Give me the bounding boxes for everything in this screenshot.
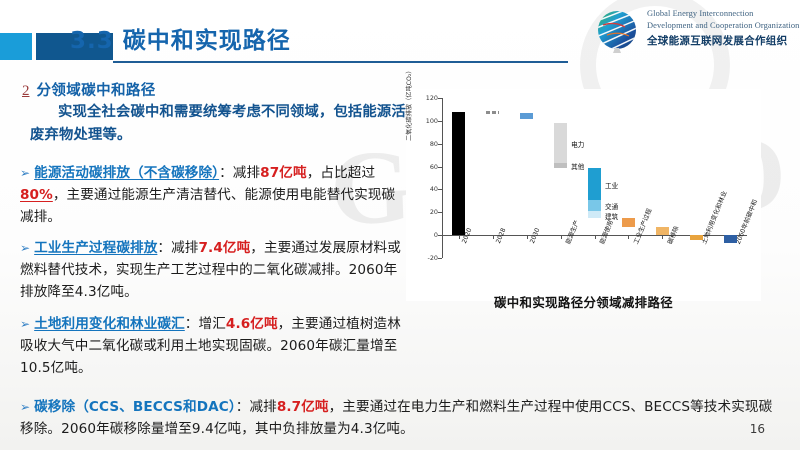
bullet-key-2: 工业生产过程碳排放 (34, 240, 157, 256)
chart-bar-segment-工业 (588, 168, 601, 200)
bullet-key-3: 土地利用变化和林业碳汇 (34, 316, 185, 332)
chart-caption: 碳中和实现路径分领域减排路径 (406, 293, 761, 311)
bullet-text-2a: 减排 (171, 240, 198, 256)
bullet-sep-4: ： (236, 399, 250, 415)
chart-y-tick (438, 189, 442, 190)
bullet-industrial-process: ➢工业生产过程碳排放：减排7.4亿吨，主要通过发展原材料或燃料替代技术，实现生产… (20, 237, 402, 303)
chart-x-tick-label: 能源生产 (563, 219, 581, 246)
chart-y-tick-label: 20 (430, 208, 438, 216)
chart-segment-label-建筑: 建筑 (605, 211, 618, 221)
chart-y-tick-label: 100 (426, 117, 438, 125)
chart-x-tick (628, 235, 629, 239)
bullet-text-3a: 增汇 (199, 316, 226, 332)
bullet-hl-1a: 87亿吨 (260, 165, 307, 181)
chart-x-tick-label: 能源使用 (597, 219, 615, 246)
bullet-lulucf-sink: ➢土地利用变化和林业碳汇：增汇4.6亿吨，主要通过植树造林吸收大气中二氧化碳或利… (20, 313, 402, 379)
chart-bar-segment-交通 (588, 200, 601, 211)
chart-y-tick (438, 258, 442, 259)
globe-icon (595, 9, 639, 53)
chart-x-tick (527, 235, 528, 239)
bullet-sep-3: ： (185, 316, 199, 332)
chart-x-tick (662, 235, 663, 239)
page-title: 3.3 碳中和实现路径 (70, 21, 291, 55)
chart-segment-label-其他: 其他 (571, 161, 584, 171)
chart-bar-segment-其他 (554, 163, 567, 168)
chart-bar-2028 (486, 111, 499, 114)
bullet-sep-1: ： (219, 165, 233, 181)
logo-en-line2: Development and Cooperation Organization (647, 20, 797, 32)
chart-y-tick-label: 40 (430, 185, 438, 193)
bullet-arrow-icon: ➢ (20, 166, 30, 180)
bullet-sep-2: ： (157, 240, 171, 256)
chart-segment-label-电力: 电力 (571, 139, 584, 149)
chart-y-tick-label: 120 (426, 94, 438, 102)
chart-bar-工业生产过程 (622, 218, 635, 226)
chart-x-tick (493, 235, 494, 239)
organization-logo: Global Energy Interconnection Developmen… (595, 7, 795, 57)
chart-x-tick (595, 235, 596, 239)
chart-bar-2060年前碳中和 (724, 235, 737, 242)
chart-bar-segment-电力 (554, 123, 567, 163)
chart-y-tick-label: 80 (430, 140, 438, 148)
logo-en-line1: Global Energy Interconnection (647, 8, 797, 20)
chart-bar-土地利用变化和林业 (690, 235, 703, 240)
chart-y-axis (442, 98, 443, 258)
chart-bar-2030 (520, 113, 533, 119)
chart-plot-area: -20020406080100120202020282030能源生产能源使用工业… (442, 98, 747, 258)
bullet-energy-activity: ➢能源活动碳排放（不含碳移除）：减排87亿吨，占比超过80%，主要通过能源生产清… (20, 162, 400, 228)
bullet-hl-3a: 4.6亿吨 (226, 316, 278, 332)
page-number: 16 (750, 422, 765, 436)
bullet-hl-4a: 8.7亿吨 (277, 399, 329, 415)
chart-y-tick-label: 0 (434, 231, 438, 239)
bullet-hl-1b: 80% (20, 187, 53, 203)
chart-y-tick (438, 98, 442, 99)
chart-y-tick (438, 121, 442, 122)
chart-segment-label-工业: 工业 (605, 180, 618, 190)
bullet-carbon-removal: ➢碳移除（CCS、BECCS和DAC）：减排8.7亿吨，主要通过在电力生产和燃料… (20, 396, 780, 440)
chart-y-tick (438, 144, 442, 145)
section-heading: 2 分领域碳中和路径 (22, 79, 156, 100)
bullet-text-1b: ，占比超过 (307, 165, 375, 181)
bullet-text-4a: 减排 (249, 399, 276, 415)
header-accent-cyan (0, 33, 32, 60)
chart-x-tick (459, 235, 460, 239)
chart-y-tick-label: -20 (428, 254, 438, 262)
chart-y-tick (438, 212, 442, 213)
chart-bar-segment-建筑 (588, 211, 601, 218)
bullet-hl-2a: 7.4亿吨 (199, 240, 251, 256)
chart-y-tick-label: 60 (430, 163, 438, 171)
bullet-key-1: 能源活动碳排放（不含碳移除） (34, 165, 219, 181)
slide-header: 3.3 碳中和实现路径 (0, 0, 800, 68)
chart-bar-碳移除 (656, 227, 669, 235)
section-number: 2 (22, 83, 30, 100)
bullet-text-1c: ，主要通过能源生产清洁替代、能源使用电能替代实现碳减排。 (20, 187, 395, 225)
chart-y-axis-label: 二氧化碳排放（亿吨CO₂） (404, 67, 413, 141)
chart-x-tick (561, 235, 562, 239)
section-title: 分领域碳中和路径 (37, 79, 156, 100)
bullet-key-4: 碳移除（CCS、BECCS和DAC） (34, 399, 236, 415)
logo-cn-name: 全球能源互联网发展合作组织 (647, 33, 797, 48)
emissions-waterfall-chart: 二氧化碳排放（亿吨CO₂） -2002040608010012020202028… (406, 89, 761, 301)
chart-bar-2020 (452, 112, 465, 235)
bullet-text-1a: 减排 (233, 165, 260, 181)
bullet-arrow-icon: ➢ (20, 400, 30, 414)
header-underline (113, 61, 568, 63)
bullet-arrow-icon: ➢ (20, 317, 30, 331)
bullet-arrow-icon: ➢ (20, 241, 30, 255)
logo-text: Global Energy Interconnection Developmen… (647, 8, 797, 48)
chart-y-tick (438, 167, 442, 168)
